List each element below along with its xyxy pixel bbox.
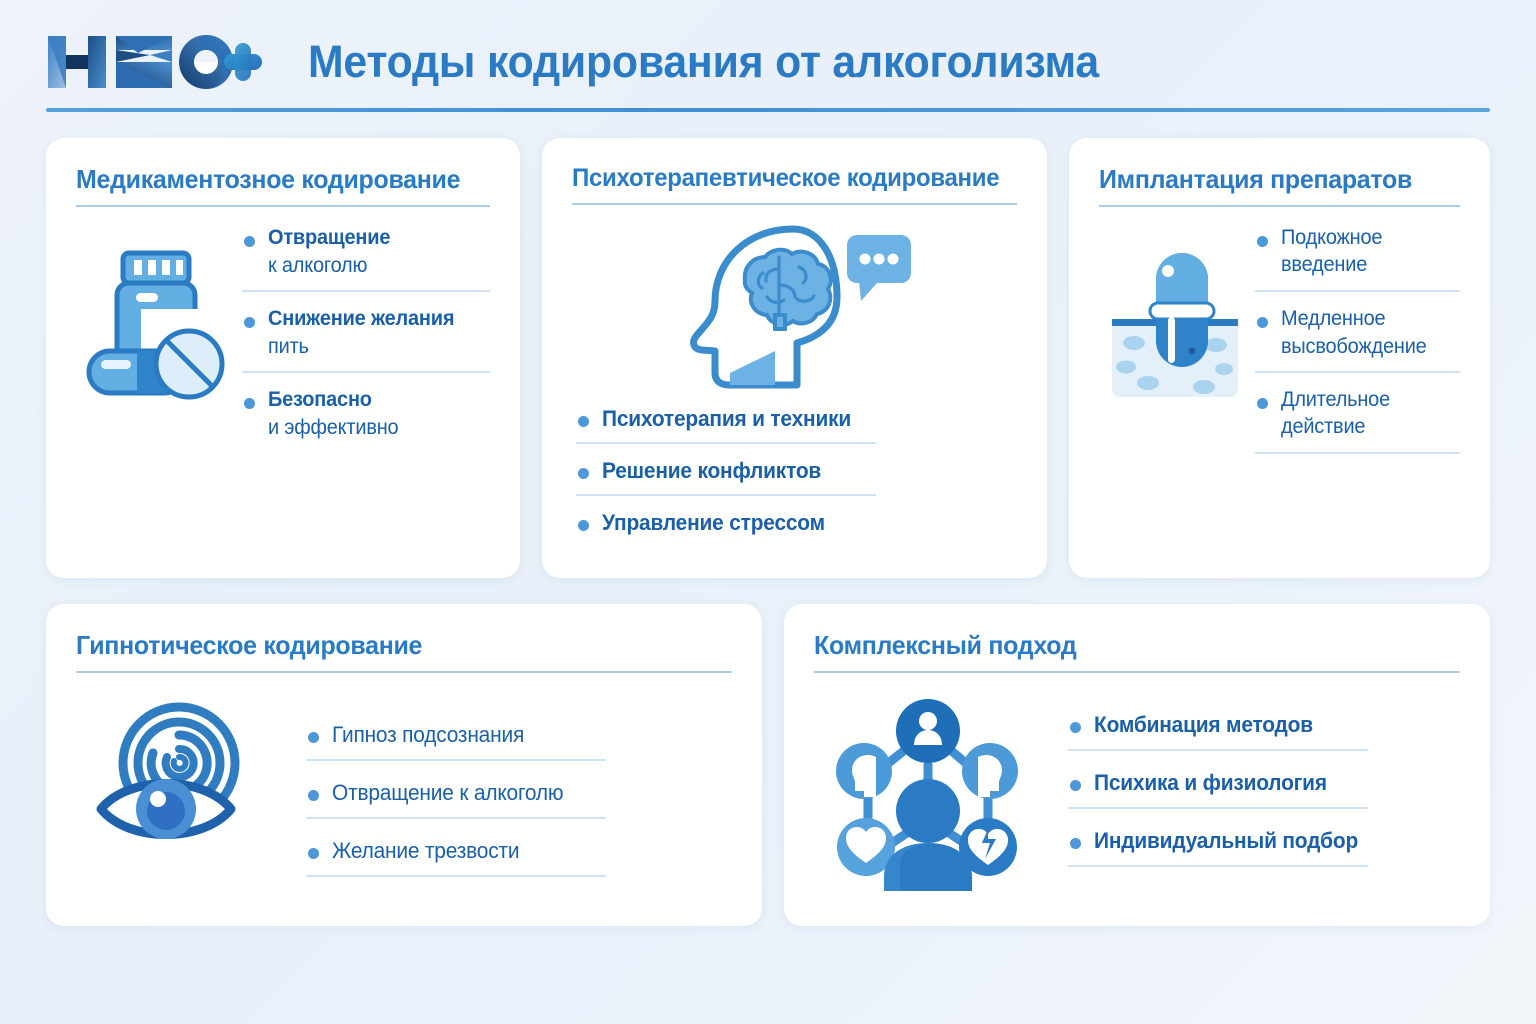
bullet-lead: Комбинация методов: [1094, 711, 1442, 739]
implant-capsule-icon: [1099, 225, 1251, 454]
bullet-divider: [576, 494, 876, 496]
card-title-divider: [76, 205, 490, 207]
bullet-sub: высвобождение: [1281, 333, 1451, 360]
bullet-item: Подкожное введение: [1255, 225, 1460, 279]
pill-bottle-icon: [76, 225, 236, 442]
bullet-item: Желание трезвости: [306, 837, 732, 865]
bullet-dot: [1257, 317, 1268, 328]
bullet-item: Отвращение к алкоголю: [242, 225, 490, 279]
pill-bottle-glyph: [81, 247, 231, 407]
neo-plus-logo: [46, 30, 264, 94]
cards-row-bottom: Гипнотическое кодирование: [46, 604, 1490, 926]
bullet-dot: [244, 236, 255, 247]
bullet-list: Подкожное введение Медленное высвобожден…: [1251, 225, 1460, 454]
card-title: Имплантация препаратов: [1099, 164, 1445, 195]
page-header: Методы кодирования от алкоголизма: [46, 0, 1490, 106]
page-title: Методы кодирования от алкоголизма: [308, 36, 1099, 88]
bullet-lead: Медленное: [1281, 306, 1451, 333]
bullet-divider: [306, 875, 606, 877]
bullet-list: Комбинация методов Психика и физиология …: [1040, 691, 1460, 891]
bullet-sub: пить: [268, 333, 479, 360]
card-title: Гипнотическое кодирование: [76, 630, 706, 661]
bullet-lead: Снижение желания: [268, 306, 479, 333]
bullet-list: Отвращение к алкоголю Снижение желания п…: [236, 225, 490, 442]
bullet-item: Комбинация методов: [1068, 711, 1460, 739]
card-gipnoticheskoe[interactable]: Гипнотическое кодирование: [46, 604, 762, 926]
bullet-divider: [1068, 749, 1368, 751]
people-network-icon: [814, 691, 1040, 891]
card-kompleksnyy[interactable]: Комплексный подход: [784, 604, 1490, 926]
bullet-lead: Желание трезвости: [332, 837, 712, 865]
card-title: Медикаментозное кодирование: [76, 164, 473, 195]
bullet-lead: Отвращение к алкоголю: [332, 779, 712, 807]
bullet-dot: [578, 416, 589, 427]
bullet-item: Психотерапия и техники: [576, 405, 1021, 433]
bullet-dot: [1070, 780, 1081, 791]
card-body: Отвращение к алкоголю Снижение желания п…: [76, 225, 490, 442]
bullet-item: Безопасно и эффективно: [242, 387, 490, 441]
bullet-dot: [1257, 398, 1268, 409]
header-divider: [46, 108, 1490, 112]
bullet-dot: [244, 398, 255, 409]
bullet-item: Управление стрессом: [576, 509, 1021, 537]
card-title: Психотерапевтическое кодирование: [572, 164, 999, 193]
bullet-item: Длительное действие: [1255, 387, 1460, 441]
bullet-dot: [578, 468, 589, 479]
hypnosis-eye-spiral-icon: [76, 691, 286, 895]
logo-icon: [46, 30, 264, 94]
bullet-lead: Безопасно: [268, 387, 479, 414]
bullet-item: Решение конфликтов: [576, 457, 1021, 485]
cards-row-top: Медикаментозное кодирование: [46, 138, 1490, 578]
bullet-lead: Длительное действие: [1281, 387, 1451, 441]
bullet-sub: к алкоголю: [268, 252, 479, 279]
bullet-dot: [1070, 838, 1081, 849]
bullet-lead: Подкожное введение: [1281, 225, 1451, 279]
card-title: Комплексный подход: [814, 630, 1434, 661]
card-body: Гипноз подсознания Отвращение к алкоголю…: [76, 691, 732, 895]
bullet-lead: Решение конфликтов: [602, 457, 1000, 485]
bullet-list: Психотерапия и техники Решение конфликто…: [568, 405, 1021, 537]
bullet-lead: Гипноз подсознания: [332, 721, 712, 749]
bullet-dot: [308, 848, 319, 859]
implant-capsule-glyph: [1100, 241, 1250, 401]
bullet-lead: Управление стрессом: [602, 509, 1000, 537]
bullet-dot: [308, 790, 319, 801]
bullet-lead: Психика и физиология: [1094, 769, 1442, 797]
card-title-divider: [76, 671, 732, 673]
card-body: Психотерапия и техники Решение конфликто…: [572, 223, 1017, 537]
bullet-divider: [1255, 371, 1460, 373]
card-body: Подкожное введение Медленное высвобожден…: [1099, 225, 1460, 454]
bullet-lead: Индивидуальный подбор: [1094, 827, 1442, 855]
bullet-divider: [576, 442, 876, 444]
card-psihoterapevticheskoe[interactable]: Психотерапевтическое кодирование: [542, 138, 1047, 578]
card-body: Комбинация методов Психика и физиология …: [814, 691, 1460, 891]
bullet-divider: [242, 371, 490, 373]
people-network-glyph: [824, 695, 1030, 891]
bullet-divider: [306, 817, 606, 819]
bullet-dot: [578, 520, 589, 531]
head-brain-speech-icon: [675, 223, 915, 391]
hypnosis-eye-spiral-glyph: [93, 701, 269, 851]
bullet-sub: и эффективно: [268, 414, 479, 441]
card-title-divider: [814, 671, 1460, 673]
bullet-divider: [1068, 807, 1368, 809]
bullet-divider: [1255, 290, 1460, 292]
head-brain-speech-glyph: [675, 223, 915, 391]
card-implantaciya[interactable]: Имплантация препаратов: [1069, 138, 1490, 578]
bullet-dot: [1257, 236, 1268, 247]
card-title-divider: [1099, 205, 1460, 207]
bullet-list: Гипноз подсознания Отвращение к алкоголю…: [286, 691, 732, 895]
bullet-item: Гипноз подсознания: [306, 721, 732, 749]
bullet-dot: [244, 317, 255, 328]
bullet-item: Индивидуальный подбор: [1068, 827, 1460, 855]
bullet-item: Психика и физиология: [1068, 769, 1460, 797]
bullet-lead: Отвращение: [268, 225, 479, 252]
card-medikamentoznoe[interactable]: Медикаментозное кодирование: [46, 138, 520, 578]
bullet-divider: [1068, 865, 1368, 867]
bullet-divider: [1255, 452, 1460, 454]
bullet-item: Снижение желания пить: [242, 306, 490, 360]
bullet-dot: [308, 732, 319, 743]
bullet-divider: [242, 290, 490, 292]
bullet-item: Отвращение к алкоголю: [306, 779, 732, 807]
bullet-divider: [306, 759, 606, 761]
bullet-item: Медленное высвобождение: [1255, 306, 1460, 360]
bullet-lead: Психотерапия и техники: [602, 405, 1000, 433]
infographic-page: Методы кодирования от алкоголизма Медика…: [0, 0, 1536, 1024]
card-title-divider: [572, 203, 1017, 205]
bullet-dot: [1070, 722, 1081, 733]
